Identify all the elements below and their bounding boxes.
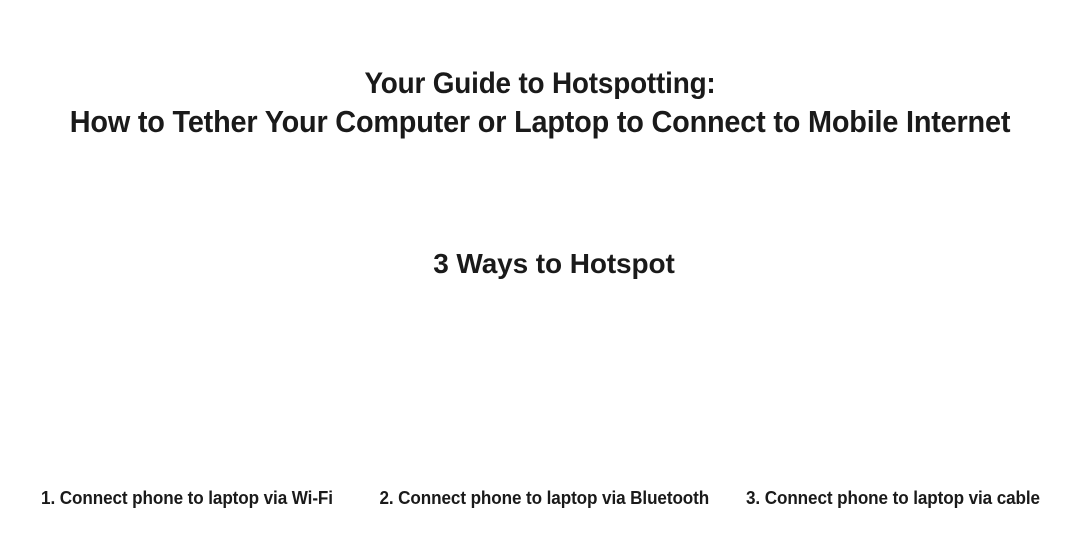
- figure-caption-cable: 3. Connect phone to laptop via cable: [732, 487, 1053, 509]
- page-title-line-2: How to Tether Your Computer or Laptop to…: [38, 103, 1042, 141]
- page-title-line-1: Your Guide to Hotspotting:: [38, 65, 1042, 103]
- section-heading: 3 Ways to Hotspot: [0, 247, 1080, 281]
- figure-caption-wifi: 1. Connect phone to laptop via Wi-Fi: [26, 487, 347, 509]
- figure-caption-bluetooth: 2. Connect phone to laptop via Bluetooth: [379, 487, 700, 509]
- figure-caption-wrapper-wifi: 1. Connect phone to laptop via Wi-Fi: [18, 487, 356, 509]
- page-title: Your Guide to Hotspotting: How to Tether…: [38, 65, 1042, 141]
- figure-caption-wrapper-bluetooth: 2. Connect phone to laptop via Bluetooth: [371, 487, 709, 509]
- article-page: Your Guide to Hotspotting: How to Tether…: [0, 0, 1080, 552]
- figure-caption-wrapper-cable: 3. Connect phone to laptop via cable: [724, 487, 1062, 509]
- caption-row: 1. Connect phone to laptop via Wi-Fi 2. …: [0, 487, 1080, 513]
